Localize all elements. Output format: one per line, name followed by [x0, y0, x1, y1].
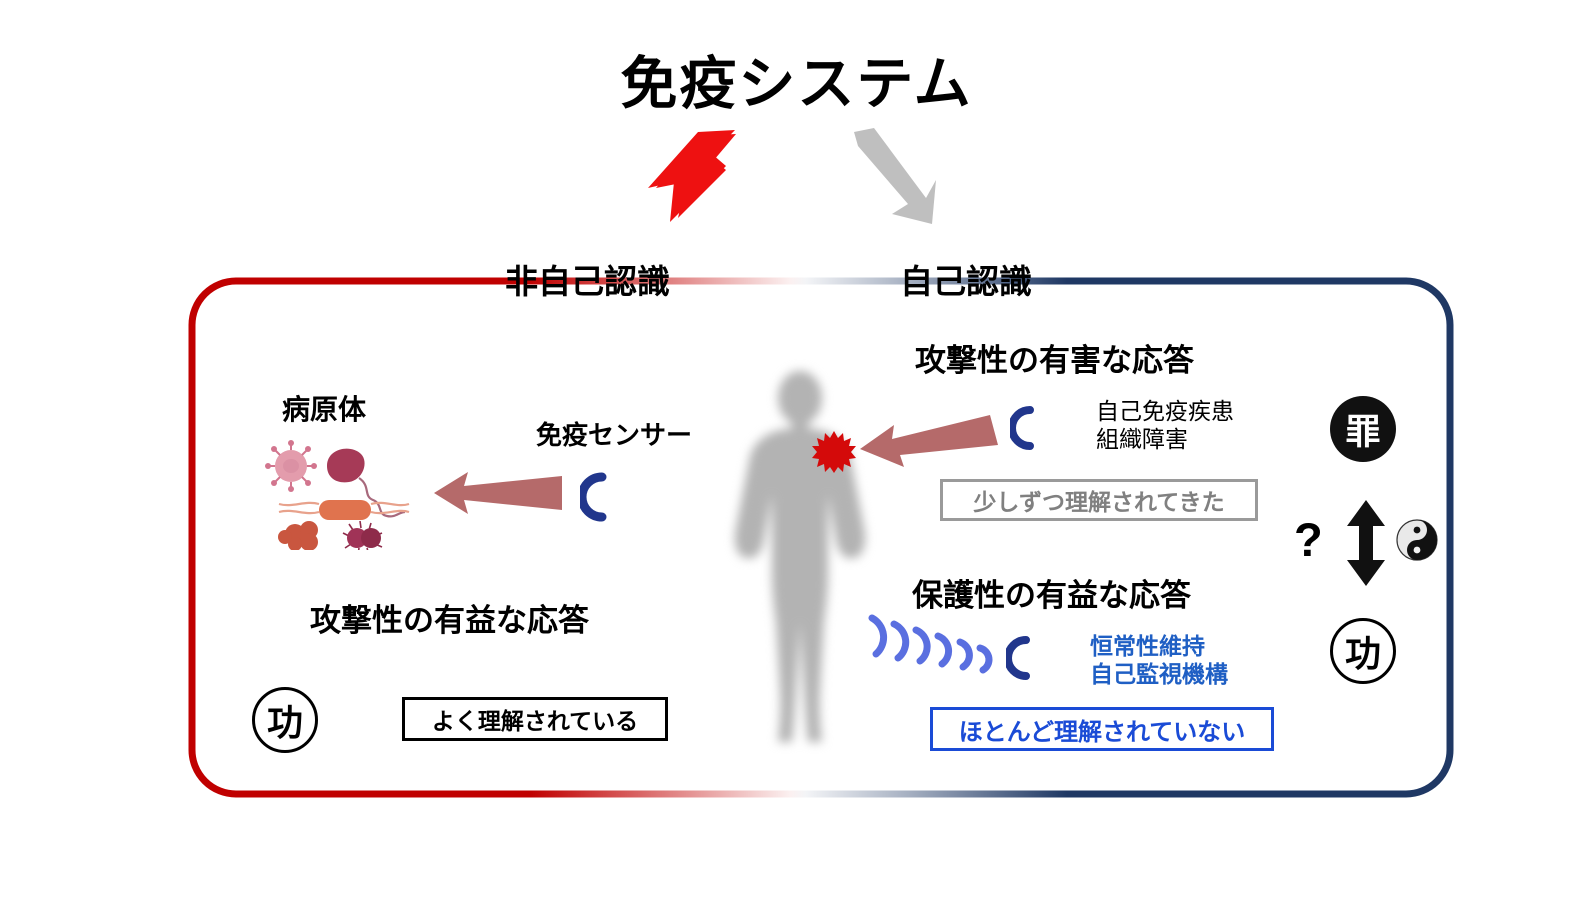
- double-headed-vertical-arrow-icon: [1345, 500, 1387, 586]
- gray-down-right-arrow-icon: [840, 128, 950, 238]
- status-box-well-understood: よく理解されている: [402, 697, 668, 741]
- left-response-heading: 攻撃性の有益な応答: [310, 595, 589, 640]
- note-line: 自己監視機構: [1090, 660, 1228, 688]
- sin-glyph: 罪: [1330, 396, 1396, 462]
- status-box-barely-understood: ほとんど理解されていない: [930, 707, 1274, 751]
- diagram-canvas: 免疫システム: [0, 0, 1593, 897]
- harmful-response-heading: 攻撃性の有害な応答: [915, 335, 1194, 380]
- panel-left-label: 非自己認識: [505, 255, 670, 303]
- panel-right-label: 自己認識: [900, 255, 1032, 303]
- immune-sensor-label: 免疫センサー: [536, 415, 692, 452]
- attack-arrow-right-icon: [860, 415, 1000, 467]
- note-line: 自己免疫疾患: [1096, 397, 1234, 425]
- pathogen-cluster-icon: [265, 438, 417, 550]
- question-mark-glyph: ?: [1294, 512, 1323, 567]
- merit-glyph-left: 功: [252, 687, 318, 753]
- merit-glyph-right: 功: [1330, 618, 1396, 684]
- protective-notes: 恒常性維持 自己監視機構: [1090, 632, 1228, 688]
- note-line: 恒常性維持: [1090, 632, 1228, 660]
- pathogen-label: 病原体: [282, 388, 366, 428]
- immune-sensor-receptor-icon: [1010, 400, 1090, 460]
- immune-sensor-receptor-icon: [1006, 630, 1086, 690]
- red-starburst-inflammation-icon: [812, 430, 856, 474]
- note-line: 組織障害: [1096, 425, 1234, 453]
- page-title: 免疫システム: [0, 52, 1593, 118]
- signal-waves-icon: [866, 612, 1006, 684]
- autoimmune-notes: 自己免疫疾患 組織障害: [1096, 397, 1234, 453]
- status-box-gradually-understood: 少しずつ理解されてきた: [940, 479, 1258, 521]
- red-down-left-arrow-icon: [640, 128, 750, 238]
- yin-yang-icon: [1396, 519, 1438, 561]
- immune-sensor-receptor-icon: [580, 465, 670, 529]
- protective-response-heading: 保護性の有益な応答: [912, 570, 1191, 615]
- attack-arrow-left-icon: [434, 468, 564, 518]
